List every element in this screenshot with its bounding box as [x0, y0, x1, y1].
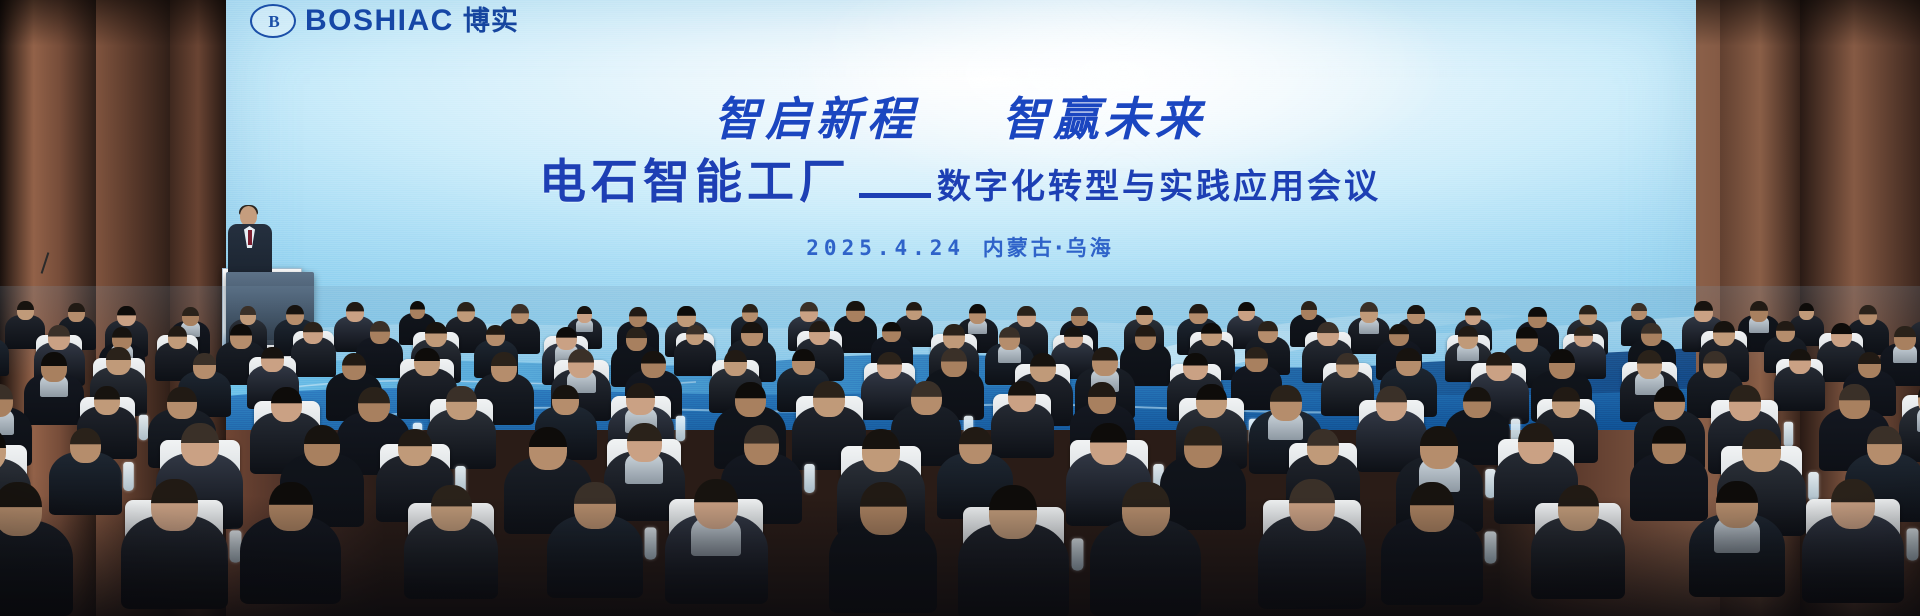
audience-person-head — [641, 351, 666, 379]
audience-person-head — [1317, 322, 1339, 347]
audience-person-head — [552, 385, 579, 415]
audience-person-head — [1258, 321, 1278, 343]
event-title-row: 电石智能工厂 数字化转型与实践应用会议 — [0, 158, 1920, 210]
audience-person-head — [41, 352, 67, 381]
speaker-figure — [228, 206, 272, 278]
audience-person-head — [568, 349, 594, 378]
audience-person-head — [491, 352, 517, 382]
audience-person-head — [94, 386, 120, 415]
audience-person-head — [1518, 423, 1554, 464]
audience-person-head — [556, 327, 577, 350]
event-title-sub: 数字化转型与实践应用会议 — [937, 170, 1381, 206]
audience-person-head — [1336, 353, 1359, 379]
audience-person-head — [1463, 387, 1491, 419]
audience-person-head — [346, 302, 364, 322]
water-bottle — [139, 415, 148, 440]
audience-person-head — [106, 347, 131, 375]
audience-person-head — [1183, 353, 1207, 380]
audience-person-head — [1742, 429, 1780, 472]
audience-person-head — [862, 429, 900, 472]
audience-person-head — [1071, 307, 1088, 326]
audience-person-head — [342, 353, 366, 380]
audience-person-head — [17, 301, 34, 320]
audience-person-head — [182, 307, 199, 327]
audience-person-head — [846, 301, 865, 322]
event-date: 2025.4.24 — [806, 236, 965, 260]
audience-person-head — [230, 324, 252, 349]
audience-person-head — [486, 325, 505, 346]
audience-person-head — [577, 306, 592, 323]
audience-person-head — [1631, 303, 1647, 320]
event-slogan: 智启新程 智赢未来 — [0, 96, 1920, 142]
audience-person-head — [1859, 305, 1877, 325]
event-title-main: 电石智能工厂 — [539, 158, 851, 207]
audience-person-head — [1465, 307, 1481, 325]
audience-person-head — [1017, 306, 1036, 327]
audience-person-head — [398, 429, 432, 467]
audience-person-head — [1136, 306, 1153, 325]
audience-person-head — [1486, 352, 1512, 381]
audience-person-head — [626, 327, 648, 351]
audience-person-head — [1799, 303, 1815, 320]
water-bottle — [123, 462, 134, 491]
audience-person-head — [1307, 429, 1339, 465]
audience-person-head — [1008, 381, 1036, 412]
slogan-right: 智赢未来 — [1002, 92, 1206, 146]
audience-person-head — [168, 326, 188, 348]
audience-person-head — [629, 307, 647, 327]
audience-person-head — [1189, 304, 1208, 325]
audience-person-head — [1641, 323, 1662, 346]
audience-person-head — [1579, 305, 1597, 325]
brand-name-english: BOSHIAC — [305, 6, 454, 36]
audience-person-head — [358, 387, 390, 423]
audience-person-head — [446, 386, 476, 420]
event-dateline: 2025.4.24 内蒙古·乌海 — [0, 232, 1920, 262]
audience-person-head — [941, 348, 967, 377]
audience-person-head — [1396, 348, 1421, 376]
audience-person-head — [1729, 385, 1761, 421]
audience-person-head — [1528, 307, 1547, 328]
audience-person-head — [1270, 385, 1302, 421]
audience-person-head — [969, 304, 986, 324]
audience-person-head — [271, 387, 302, 422]
audience-person-head — [1088, 382, 1116, 413]
audience-person-head — [1713, 321, 1735, 345]
audience-person-head — [1360, 302, 1379, 323]
audience-person-head — [906, 302, 922, 320]
audience-person-head — [1064, 327, 1083, 348]
audience-person-head — [1238, 302, 1255, 321]
audience-person-head — [626, 383, 655, 415]
audience-person-head — [1135, 325, 1157, 350]
audience-person-head — [1516, 327, 1538, 352]
audience-person-head — [410, 301, 426, 319]
conference-photo: B BOSHIAC 博实 智启新程 智赢未来 电石智能工厂 数字化转型与实践应用… — [0, 0, 1920, 616]
audience-area — [0, 286, 1920, 616]
audience-person-head — [741, 322, 762, 346]
audience-person-head — [1420, 426, 1458, 469]
audience-person-head — [529, 427, 567, 470]
audience-person-head — [1184, 426, 1222, 468]
audience-person-head — [1196, 384, 1227, 419]
slogan-left: 智启新程 — [714, 92, 918, 146]
audience-person-head — [286, 305, 305, 326]
audience-person-head — [181, 423, 219, 465]
audience-person-head — [68, 303, 85, 322]
audience-person-head — [877, 352, 902, 380]
audience-person-head — [1694, 301, 1712, 322]
audience-person-head — [1389, 324, 1409, 346]
audience-person-head — [627, 423, 662, 462]
audience-person-head — [117, 306, 136, 327]
audience-person-head — [70, 428, 102, 463]
audience-person-head — [370, 321, 390, 344]
audience-person-head — [261, 347, 283, 372]
audience-person-head — [677, 306, 695, 327]
audience-person-head — [1776, 321, 1795, 342]
audience-person-head — [1867, 426, 1902, 465]
audience-person-head — [457, 302, 475, 323]
boshiac-emblem-icon: B — [250, 4, 296, 38]
speaker-tie — [248, 230, 252, 245]
audience-person-head — [425, 322, 447, 347]
foreground-shadow — [0, 496, 1920, 616]
audience-person-head — [1839, 384, 1870, 419]
audience-person-head — [1407, 305, 1425, 325]
audience-person-head — [792, 349, 815, 374]
audience-person-head — [193, 353, 216, 379]
audience-person-head — [1376, 386, 1407, 421]
audience-person-head — [1201, 323, 1222, 346]
audience-person-head — [1654, 386, 1684, 420]
audience-person-head — [1301, 301, 1318, 320]
water-bottle — [675, 416, 684, 441]
audience-person-head — [414, 348, 440, 377]
audience-person-head — [303, 322, 323, 344]
audience-person-head — [724, 350, 747, 375]
audience-person-head — [943, 324, 965, 348]
audience-person-head — [744, 425, 780, 465]
audience-person-head — [1703, 351, 1727, 378]
speaker-head — [240, 206, 257, 226]
audience-person-head — [882, 322, 900, 342]
audience-person-head — [1245, 347, 1267, 372]
audience-person-head — [800, 302, 818, 322]
title-dash-divider — [859, 193, 931, 198]
audience-person-head — [1092, 347, 1118, 376]
brand-logo: B BOSHIAC 博实 — [250, 4, 519, 38]
audience-person-head — [1652, 426, 1686, 464]
audience-person-head — [48, 325, 70, 350]
audience-person-head — [959, 427, 992, 464]
audience-person-head — [1858, 352, 1881, 378]
audience-person-head — [511, 304, 529, 324]
audience-person-head — [1030, 353, 1056, 383]
audience-person-head — [735, 382, 766, 417]
audience-person-head — [1090, 423, 1127, 464]
audience-person-head — [686, 325, 704, 346]
audience-person-head — [1574, 326, 1593, 348]
brand-name-chinese: 博实 — [463, 8, 519, 35]
audience-person-head — [1552, 387, 1580, 418]
audience-person-head — [911, 381, 941, 415]
audience-person-head — [167, 387, 196, 420]
audience-person-head — [742, 304, 758, 322]
logo-mark-letter: B — [268, 13, 277, 30]
audience-person-head — [999, 327, 1020, 351]
audience-person-head — [1637, 350, 1663, 379]
water-bottle — [804, 465, 815, 494]
water-bottle — [1783, 422, 1792, 447]
audience-person-head — [1894, 326, 1916, 350]
event-location: 内蒙古·乌海 — [983, 236, 1114, 260]
audience-person-head — [1789, 349, 1811, 374]
audience-person-head — [1458, 326, 1478, 349]
audience-person-head — [1750, 301, 1768, 321]
audience-person-head — [1549, 349, 1575, 379]
audience-person-head — [304, 425, 341, 466]
audience-person-head — [813, 381, 845, 417]
audience-person-head — [809, 321, 830, 345]
audience-person-head — [240, 306, 256, 324]
audience-person-head — [1831, 323, 1852, 347]
